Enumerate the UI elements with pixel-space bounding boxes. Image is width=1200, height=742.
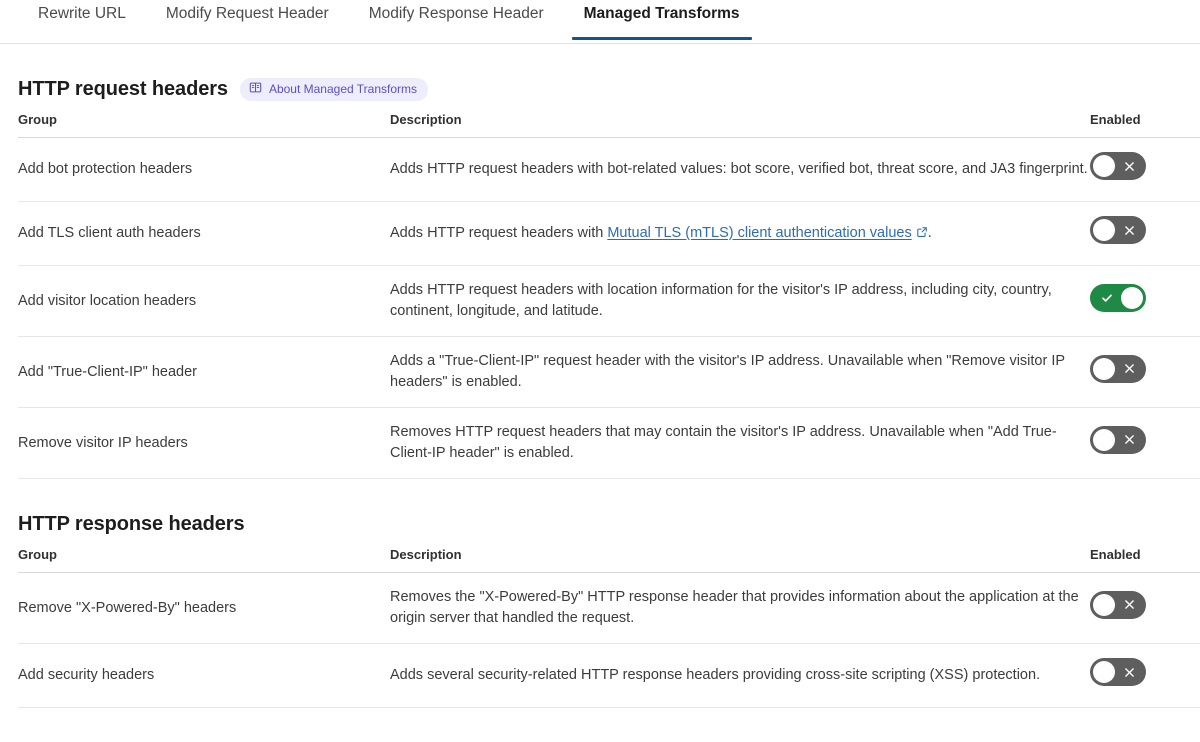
tab-bar: Rewrite URL Modify Request Header Modify… (0, 0, 1200, 44)
section-http-response-headers: HTTP response headers Group Description … (0, 479, 1200, 708)
toggle-knob (1093, 594, 1115, 616)
toggle-knob (1121, 287, 1143, 309)
toggle-add-bot-protection-headers[interactable] (1090, 152, 1146, 180)
about-managed-transforms-pill[interactable]: About Managed Transforms (240, 78, 428, 101)
external-link-icon[interactable] (916, 224, 928, 245)
table-header-row: Group Description Enabled (18, 112, 1200, 138)
table-row: Remove visitor IP headers Removes HTTP r… (18, 408, 1200, 479)
toggle-add-visitor-location-headers[interactable] (1090, 284, 1146, 312)
toggle-add-tls-client-auth-headers[interactable] (1090, 216, 1146, 244)
table-row: Add TLS client auth headers Adds HTTP re… (18, 202, 1200, 266)
row-group-label: Add security headers (18, 644, 390, 708)
toggle-remove-visitor-ip-headers[interactable] (1090, 426, 1146, 454)
toggle-add-security-headers[interactable] (1090, 658, 1146, 686)
row-enabled-cell (1090, 138, 1200, 202)
tab-managed-transforms[interactable]: Managed Transforms (564, 0, 760, 40)
table-row: Add security headers Adds several securi… (18, 644, 1200, 708)
close-icon (1112, 216, 1146, 244)
row-group-label: Remove visitor IP headers (18, 408, 390, 479)
row-description: Removes the "X-Powered-By" HTTP response… (390, 573, 1090, 644)
column-header-enabled: Enabled (1090, 112, 1200, 138)
page-title: HTTP response headers (18, 511, 245, 537)
section-header: HTTP response headers (18, 479, 1182, 547)
row-group-label: Add "True-Client-IP" header (18, 337, 390, 408)
close-icon (1112, 355, 1146, 383)
table-row: Add visitor location headers Adds HTTP r… (18, 266, 1200, 337)
row-description: Adds HTTP request headers with location … (390, 266, 1090, 337)
check-icon (1090, 284, 1124, 312)
column-header-description: Description (390, 112, 1090, 138)
column-header-group: Group (18, 547, 390, 573)
toggle-knob (1093, 358, 1115, 380)
row-enabled-cell (1090, 408, 1200, 479)
toggle-knob (1093, 661, 1115, 683)
row-description: Adds HTTP request headers with Mutual TL… (390, 202, 1090, 266)
tab-modify-request-header[interactable]: Modify Request Header (146, 0, 349, 40)
row-enabled-cell (1090, 573, 1200, 644)
row-description: Adds a "True-Client-IP" request header w… (390, 337, 1090, 408)
toggle-knob (1093, 219, 1115, 241)
table-row: Add "True-Client-IP" header Adds a "True… (18, 337, 1200, 408)
toggle-add-true-client-ip-header[interactable] (1090, 355, 1146, 383)
table-row: Add bot protection headers Adds HTTP req… (18, 138, 1200, 202)
section-http-request-headers: HTTP request headers About Managed Trans… (0, 44, 1200, 479)
mutual-tls-link[interactable]: Mutual TLS (mTLS) client authentication … (607, 225, 911, 241)
column-header-description: Description (390, 547, 1090, 573)
row-description: Adds HTTP request headers with bot-relat… (390, 138, 1090, 202)
close-icon (1112, 658, 1146, 686)
row-description: Removes HTTP request headers that may co… (390, 408, 1090, 479)
table-header-row: Group Description Enabled (18, 547, 1200, 573)
close-icon (1112, 426, 1146, 454)
close-icon (1112, 152, 1146, 180)
row-group-label: Remove "X-Powered-By" headers (18, 573, 390, 644)
response-headers-table: Group Description Enabled Remove "X-Powe… (18, 547, 1200, 708)
row-enabled-cell (1090, 266, 1200, 337)
tab-modify-response-header[interactable]: Modify Response Header (349, 0, 564, 40)
row-description: Adds several security-related HTTP respo… (390, 644, 1090, 708)
toggle-knob (1093, 429, 1115, 451)
page-title: HTTP request headers (18, 76, 228, 102)
close-icon (1112, 591, 1146, 619)
row-enabled-cell (1090, 202, 1200, 266)
row-group-label: Add visitor location headers (18, 266, 390, 337)
section-header: HTTP request headers About Managed Trans… (18, 44, 1182, 112)
row-enabled-cell (1090, 644, 1200, 708)
toggle-remove-x-powered-by-headers[interactable] (1090, 591, 1146, 619)
row-group-label: Add TLS client auth headers (18, 202, 390, 266)
row-description-suffix: . (928, 225, 932, 241)
request-headers-table: Group Description Enabled Add bot protec… (18, 112, 1200, 479)
toggle-knob (1093, 155, 1115, 177)
book-icon (249, 81, 262, 98)
column-header-enabled: Enabled (1090, 547, 1200, 573)
row-enabled-cell (1090, 337, 1200, 408)
tab-rewrite-url[interactable]: Rewrite URL (18, 0, 146, 40)
row-group-label: Add bot protection headers (18, 138, 390, 202)
table-row: Remove "X-Powered-By" headers Removes th… (18, 573, 1200, 644)
about-pill-label: About Managed Transforms (269, 81, 417, 97)
column-header-group: Group (18, 112, 390, 138)
row-description-prefix: Adds HTTP request headers with (390, 225, 607, 241)
